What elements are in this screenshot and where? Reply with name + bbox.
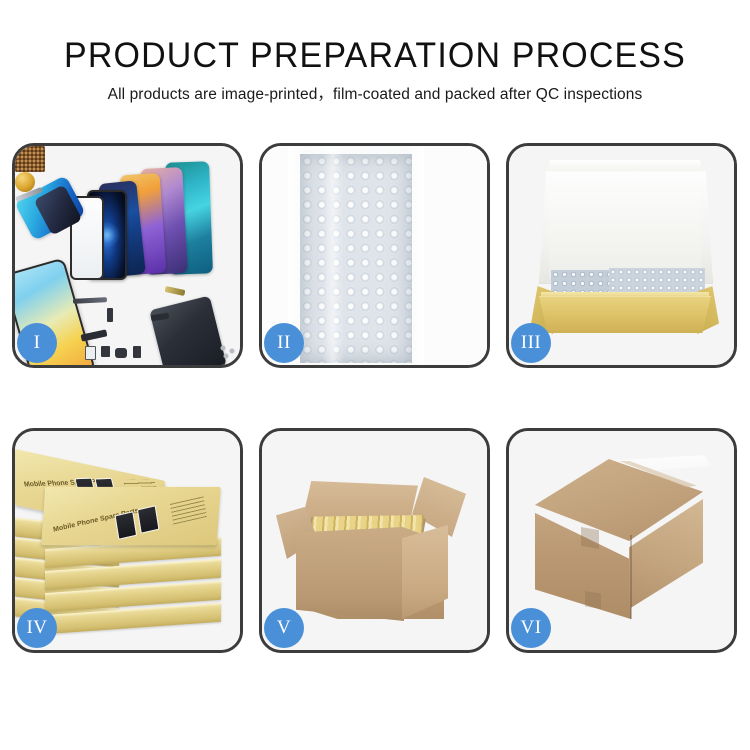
process-step-panel-4[interactable]: Mobile Phone Spare Parts Mobile Phone Sp… <box>12 428 243 653</box>
step-badge-5: V <box>264 608 304 648</box>
carton-corner-seam <box>630 535 632 619</box>
step-badge-4: IV <box>17 608 57 648</box>
page-title: PRODUCT PREPARATION PROCESS <box>11 0 739 78</box>
header: PRODUCT PREPARATION PROCESS All products… <box>0 0 750 106</box>
box-inner-white <box>549 192 701 278</box>
box-screen-print-3 <box>115 511 138 540</box>
small-part-4 <box>133 346 141 358</box>
process-step-panel-2[interactable]: II <box>259 143 490 368</box>
flex-cable-1 <box>73 297 107 304</box>
infographic-page: PRODUCT PREPARATION PROCESS All products… <box>0 0 750 750</box>
process-step-panel-3[interactable]: III <box>506 143 737 368</box>
vibration-motor-part <box>15 172 35 192</box>
flex-cable-3 <box>165 286 186 296</box>
process-step-panel-6[interactable]: VI <box>506 428 737 653</box>
box-spec-lines-2 <box>170 495 207 524</box>
small-part-3 <box>115 348 127 358</box>
printed-box-second: Mobile Phone Spare Parts <box>41 487 221 545</box>
carton-handle-tab-lower <box>585 591 601 609</box>
small-part-2 <box>101 346 110 357</box>
bubble-wrap-sheet <box>300 154 412 363</box>
step-badge-1: I <box>17 323 57 363</box>
bubble-wrap-highlight <box>322 146 344 365</box>
process-step-grid: I II III <box>12 143 738 678</box>
box-front-kraft <box>539 296 711 333</box>
phone-motherboard <box>149 296 227 365</box>
small-part-5 <box>107 308 113 322</box>
process-step-panel-1[interactable]: I <box>12 143 243 368</box>
carton-front-face <box>296 541 404 621</box>
page-subtitle: All products are image-printed，film-coat… <box>0 78 750 106</box>
carton-handle-tab-upper <box>581 527 599 549</box>
step-badge-3: III <box>511 323 551 363</box>
chip-grid-part <box>15 146 45 172</box>
sim-tray-part <box>85 346 96 360</box>
process-step-panel-5[interactable]: V <box>259 428 490 653</box>
step-badge-6: VI <box>511 608 551 648</box>
box-screen-print-4 <box>137 505 160 534</box>
screws-group <box>219 344 239 360</box>
step-badge-2: II <box>264 323 304 363</box>
